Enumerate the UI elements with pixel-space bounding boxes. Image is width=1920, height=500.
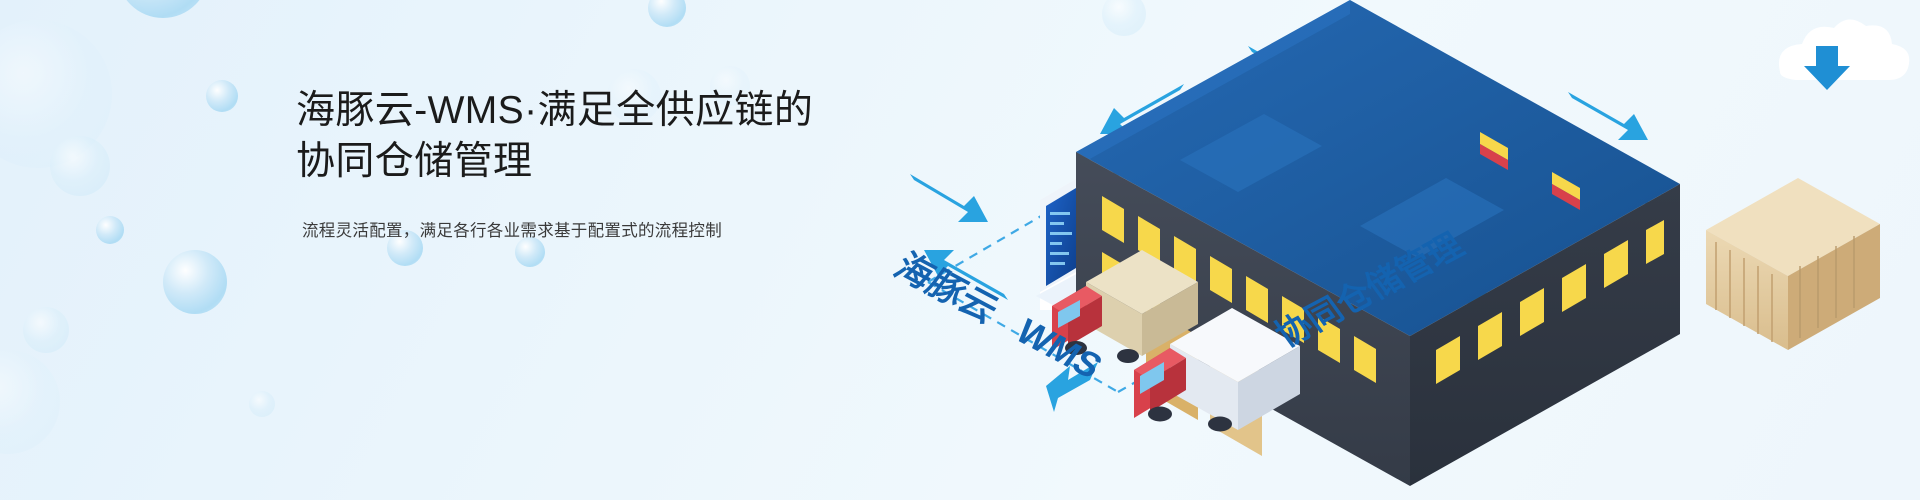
- bubble-14: [0, 350, 60, 454]
- cloud-icon: [1779, 19, 1909, 90]
- hero-illustration: 海豚云 WMS 协同仓储管理: [880, 0, 1920, 500]
- bubble-8: [96, 216, 124, 244]
- bubble-12: [23, 307, 69, 353]
- bubble-9: [163, 250, 227, 314]
- hero-copy: 海豚云-WMS·满足全供应链的 协同仓储管理 流程灵活配置，满足各行各业需求基于…: [296, 86, 936, 244]
- bubble-13: [249, 391, 275, 417]
- hero-banner: 海豚云-WMS·满足全供应链的 协同仓储管理 流程灵活配置，满足各行各业需求基于…: [0, 0, 1920, 500]
- bubble-0: [117, 0, 209, 18]
- bubble-1: [648, 0, 686, 27]
- page-title: 海豚云-WMS·满足全供应链的 协同仓储管理: [296, 86, 936, 187]
- bubble-4: [206, 80, 238, 112]
- bubble-3: [0, 20, 112, 168]
- hero-subtitle: 流程灵活配置，满足各行各业需求基于配置式的流程控制: [302, 219, 936, 244]
- bubble-7: [50, 136, 110, 196]
- brand-label-text: 海豚云: [887, 246, 1007, 330]
- shipping-container: [1706, 178, 1880, 350]
